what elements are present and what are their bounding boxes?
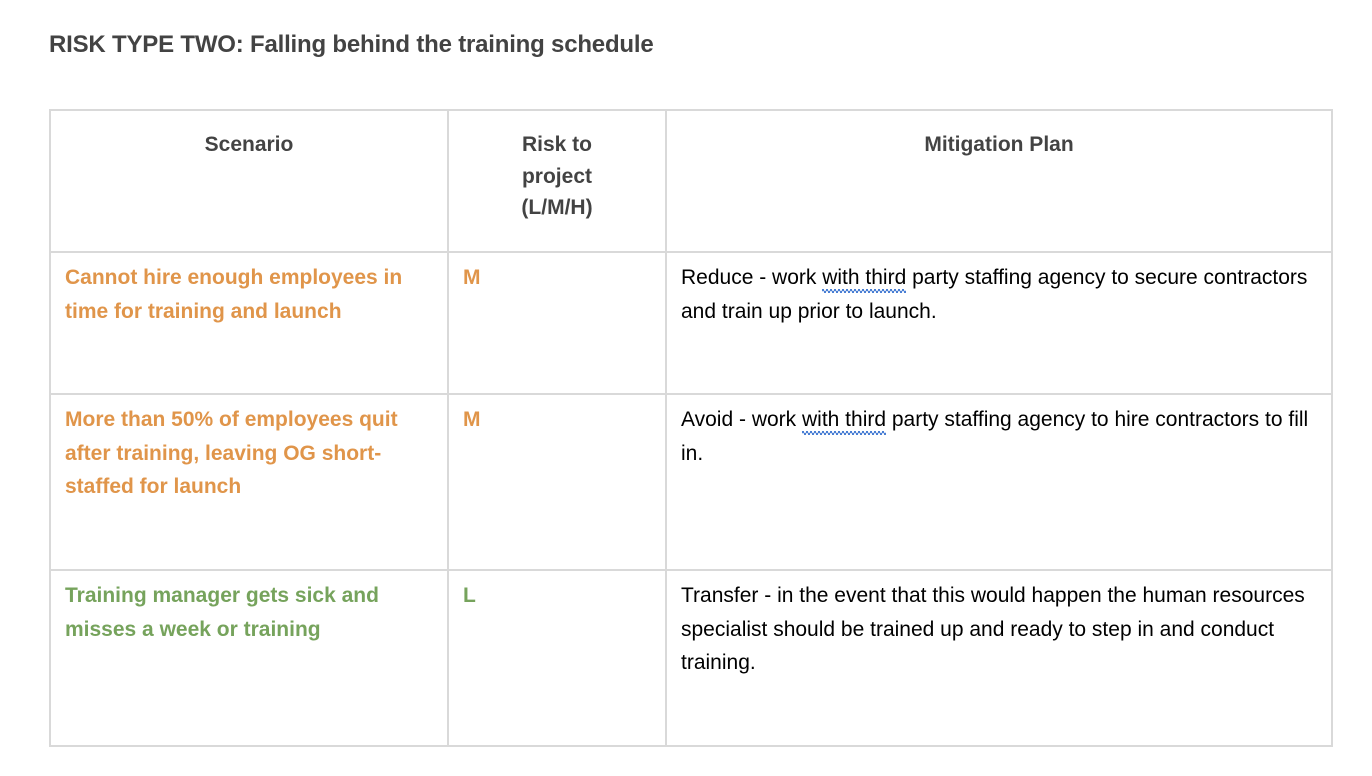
column-header-scenario: Scenario (50, 110, 448, 252)
risk-mitigation-table: Scenario Risk to project (L/M/H) Mitigat… (49, 109, 1333, 747)
column-header-mitigation-plan: Mitigation Plan (666, 110, 1332, 252)
table-row: Cannot hire enough employees in time for… (50, 252, 1332, 394)
table-row: Training manager gets sick and misses a … (50, 570, 1332, 746)
mitigation-cell: Reduce - work with third party staffing … (666, 252, 1332, 394)
grammar-flagged-text[interactable]: with third (802, 408, 886, 431)
mitigation-text-pre: Transfer - in the event that this would … (681, 584, 1305, 674)
risk-level-cell: M (448, 252, 666, 394)
page-title: RISK TYPE TWO: Falling behind the traini… (49, 31, 654, 59)
risk-level-cell: M (448, 394, 666, 570)
column-header-risk-line-2: project (463, 161, 651, 193)
mitigation-cell: Avoid - work with third party staffing a… (666, 394, 1332, 570)
risk-level-cell: L (448, 570, 666, 746)
scenario-cell: More than 50% of employees quit after tr… (50, 394, 448, 570)
column-header-risk-line-3: (L/M/H) (463, 192, 651, 224)
scenario-cell: Cannot hire enough employees in time for… (50, 252, 448, 394)
table-row: More than 50% of employees quit after tr… (50, 394, 1332, 570)
column-header-risk-line-1: Risk to (463, 129, 651, 161)
table-header-row: Scenario Risk to project (L/M/H) Mitigat… (50, 110, 1332, 252)
column-header-risk-to-project: Risk to project (L/M/H) (448, 110, 666, 252)
grammar-flagged-text[interactable]: with third (822, 266, 906, 289)
document-page: RISK TYPE TWO: Falling behind the traini… (0, 0, 1372, 776)
mitigation-text-pre: Reduce - work (681, 266, 822, 289)
mitigation-cell: Transfer - in the event that this would … (666, 570, 1332, 746)
scenario-cell: Training manager gets sick and misses a … (50, 570, 448, 746)
mitigation-text-pre: Avoid - work (681, 408, 802, 431)
